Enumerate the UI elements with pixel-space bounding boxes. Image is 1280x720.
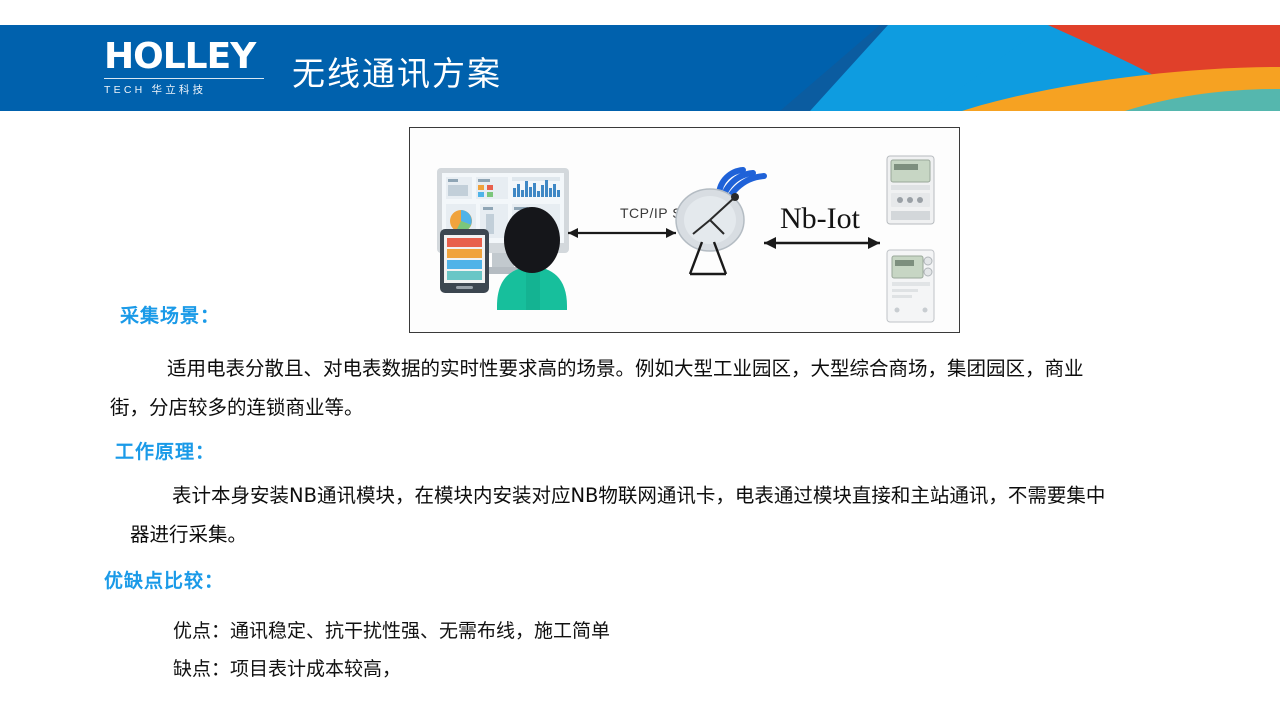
electric-meter-top-icon: [887, 156, 934, 224]
communication-topology-diagram: TCP/IP SSL Nb-Iot: [409, 127, 960, 333]
electric-meter-bottom-icon: [887, 250, 934, 322]
section-scene-line-2: 街，分店较多的连锁商业等。: [110, 391, 364, 420]
section-principle-line-1: 表计本身安装NB通讯模块，在模块内安装对应NB物联网通讯卡，电表通过模块直接和主…: [172, 479, 1105, 508]
logo-wordmark: HOLLEY: [104, 37, 264, 77]
section-heading-scene: 采集场景：: [120, 301, 220, 328]
satellite-dish-icon: [676, 170, 764, 274]
svg-text:Nb-Iot: Nb-Iot: [780, 202, 861, 235]
comparison-cons-line: 缺点：项目表计成本较高，: [173, 654, 401, 681]
page-title: 无线通讯方案: [292, 47, 502, 95]
holley-logo: HOLLEY TECH 华立科技: [104, 37, 264, 99]
section-heading-comparison: 优缺点比较：: [104, 566, 224, 593]
comparison-pros-line: 优点：通讯稳定、抗干扰性强、无需布线，施工简单: [173, 616, 610, 643]
section-scene-line-1: 适用电表分散且、对电表数据的实时性要求高的场景。例如大型工业园区，大型综合商场，…: [167, 352, 1084, 381]
operator-workstation-illustration: [437, 168, 569, 310]
section-principle-line-2: 器进行采集。: [130, 518, 247, 547]
nbiot-link: Nb-Iot: [764, 202, 880, 249]
logo-subtitle: TECH 华立科技: [104, 78, 264, 97]
slide-header-band: HOLLEY TECH 华立科技 无线通讯方案: [0, 25, 1280, 111]
header-decoration-swoosh: [780, 25, 1280, 111]
section-heading-principle: 工作原理：: [115, 437, 215, 464]
